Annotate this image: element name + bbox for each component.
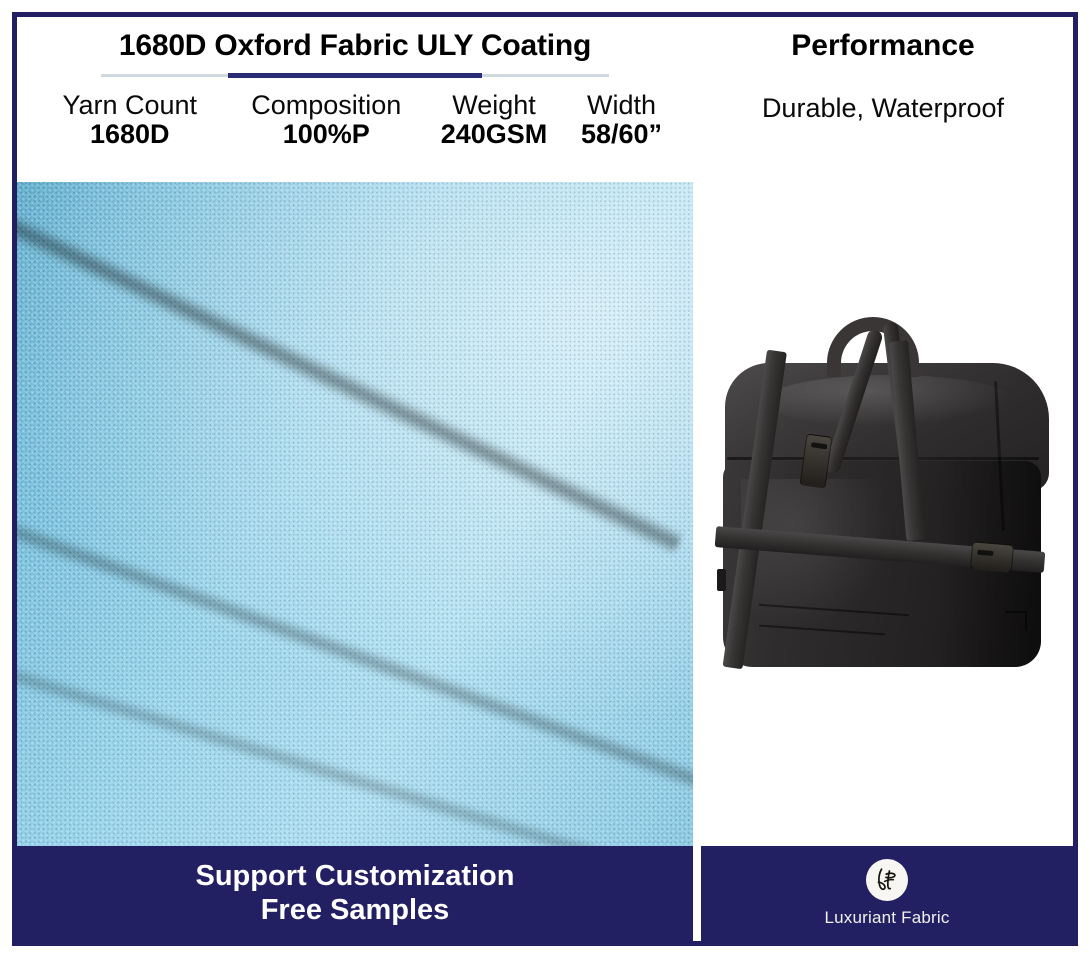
header-left-panel: 1680D Oxford Fabric ULY Coating Yarn Cou… (17, 17, 693, 182)
bag-lid-seam (727, 457, 1039, 460)
spec-value: 240GSM (424, 119, 564, 150)
buckle-slot (811, 442, 828, 449)
poster-header: 1680D Oxford Fabric ULY Coating Yarn Cou… (17, 17, 1073, 182)
product-poster: 1680D Oxford Fabric ULY Coating Yarn Cou… (12, 12, 1078, 946)
poster-inner: 1680D Oxford Fabric ULY Coating Yarn Cou… (17, 17, 1073, 941)
spec-value: 1680D (31, 119, 228, 150)
spec-column-yarn-count: Yarn Count 1680D (31, 91, 228, 150)
brand-name: Luxuriant Fabric (824, 908, 949, 928)
spec-label: Width (564, 91, 679, 119)
spec-column-weight: Weight 240GSM (424, 91, 564, 150)
fabric-layer-light-blue (17, 182, 693, 856)
duffel-bag (719, 357, 1055, 677)
spec-value: 58/60” (564, 119, 679, 150)
bag-corner-foot (1005, 611, 1027, 631)
performance-subtitle: Durable, Waterproof (703, 93, 1063, 124)
spec-value: 100%P (228, 119, 424, 150)
bag-buckle-side (970, 541, 1014, 573)
buckle-slot (977, 550, 993, 556)
spec-table: Yarn Count 1680D Composition 100%P Weigh… (31, 91, 679, 150)
header-right-panel: Performance Durable, Waterproof (693, 17, 1073, 182)
weave-texture (17, 182, 693, 856)
weave-dots (17, 182, 693, 856)
spec-label: Composition (228, 91, 424, 119)
banner-line-2: Free Samples (261, 894, 450, 928)
spec-column-width: Width 58/60” (564, 91, 679, 150)
spec-column-composition: Composition 100%P (228, 91, 424, 150)
brand-logo-icon (866, 859, 908, 901)
spec-label: Weight (424, 91, 564, 119)
title-divider (101, 74, 609, 77)
page-title: 1680D Oxford Fabric ULY Coating (31, 29, 679, 63)
banner-line-1: Support Customization (196, 860, 515, 894)
fabric-swatch-photo (17, 182, 693, 856)
poster-footer: Support Customization Free Samples Luxur… (17, 846, 1073, 941)
product-bag-photo (701, 182, 1073, 856)
brand-banner: Luxuriant Fabric (701, 846, 1073, 941)
customization-banner: Support Customization Free Samples (17, 846, 693, 941)
spec-label: Yarn Count (31, 91, 228, 119)
performance-title: Performance (703, 29, 1063, 63)
bag-zipper-pull (717, 569, 726, 591)
